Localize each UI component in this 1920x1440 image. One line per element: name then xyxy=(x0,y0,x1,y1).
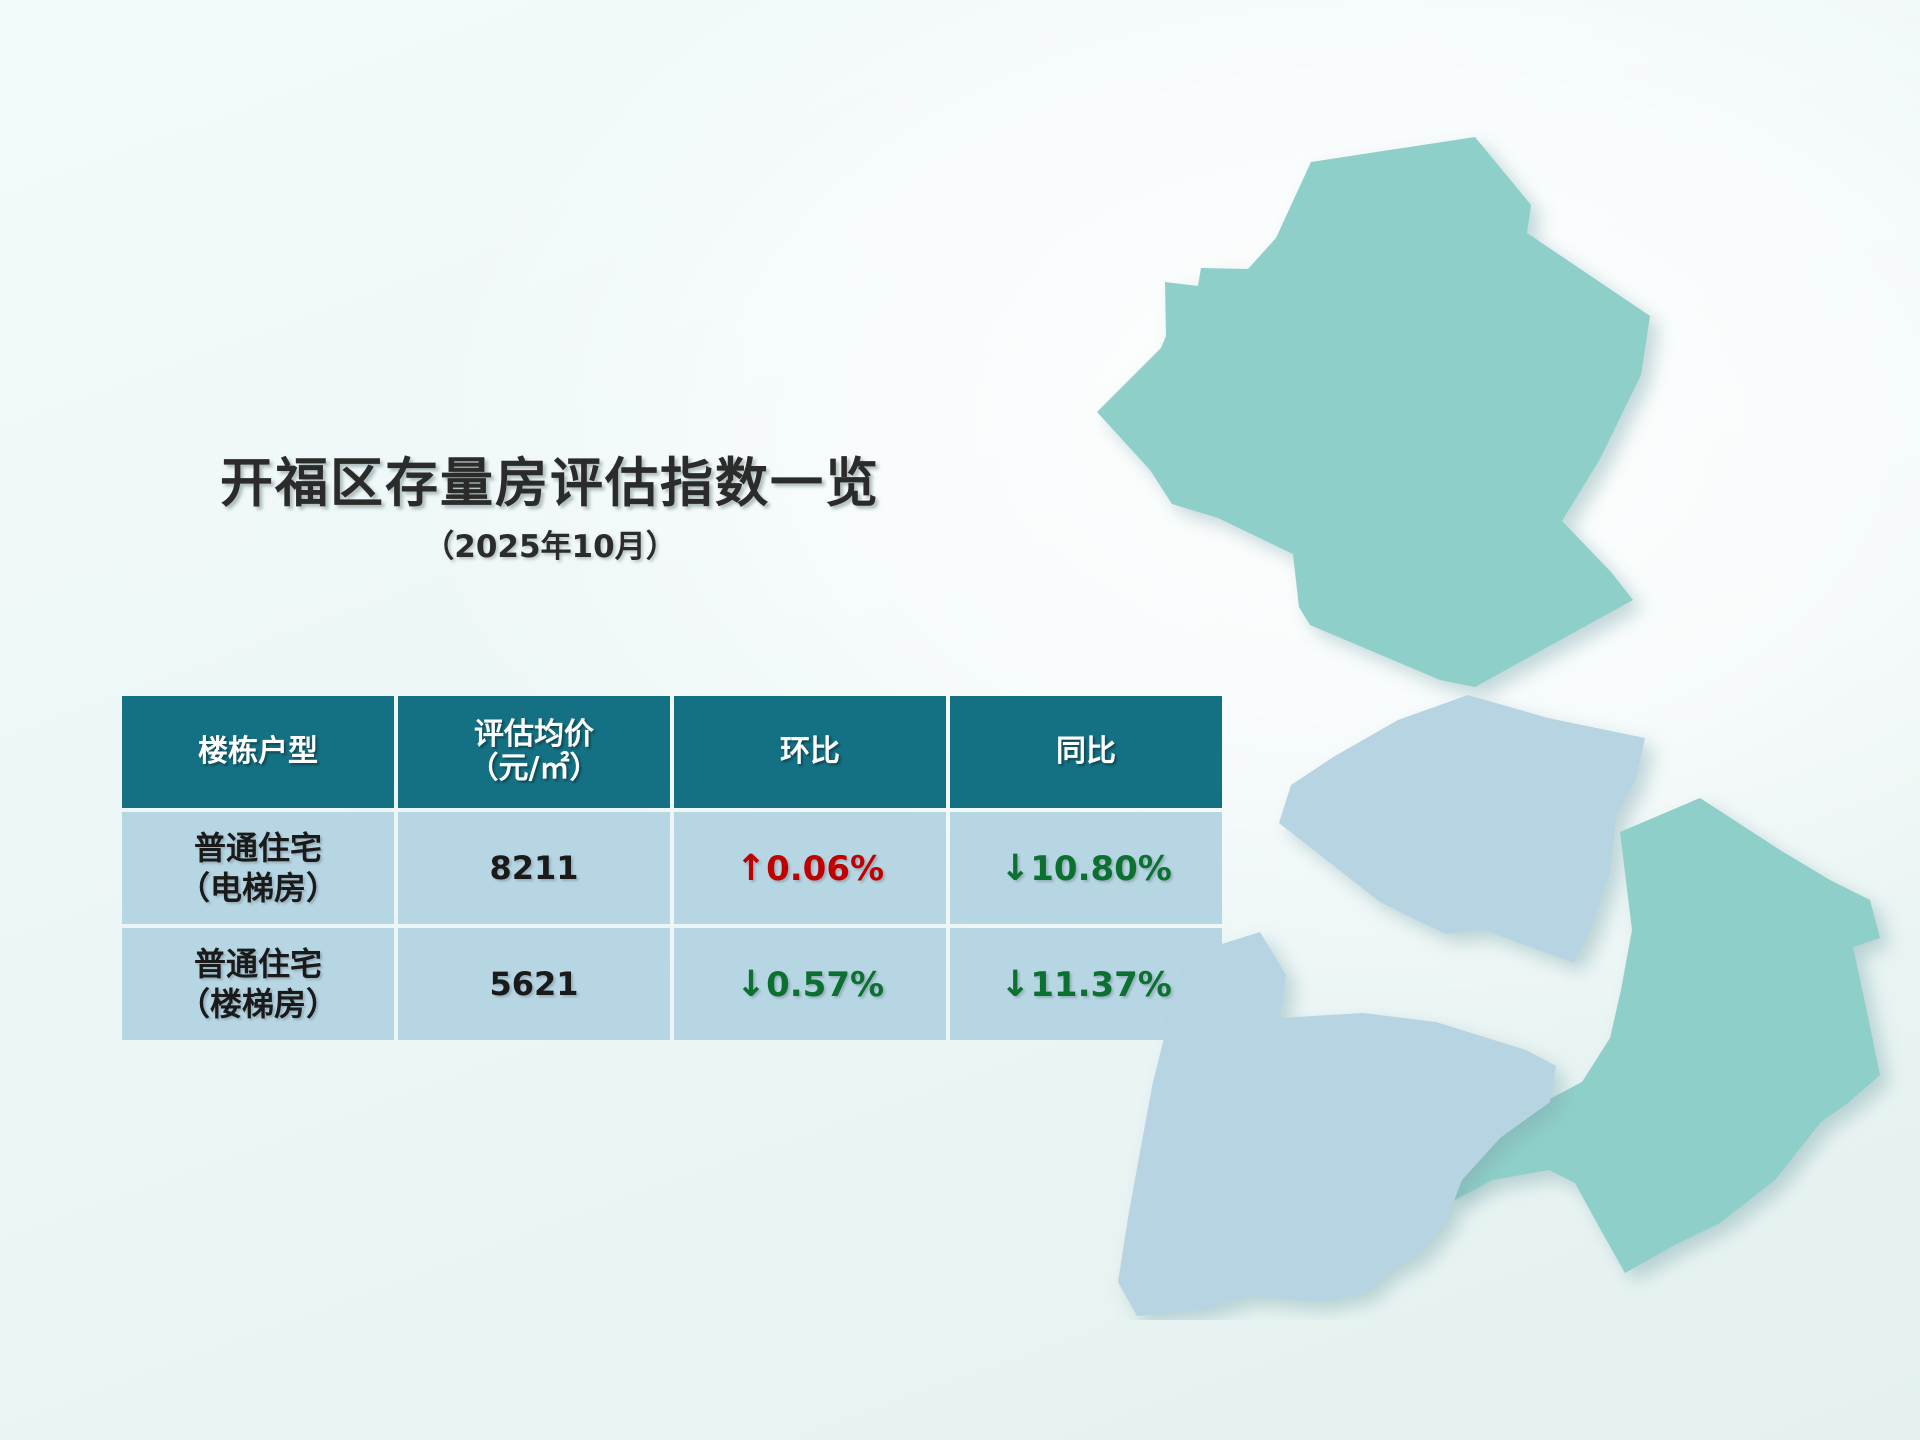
arrow-down-icon: ↓ xyxy=(1000,848,1030,889)
mom-value: 0.06% xyxy=(766,849,884,889)
title-block: 开福区存量房评估指数一览 （2025年10月） xyxy=(150,455,950,566)
column-header-price: 评估均价 （元/㎡） xyxy=(398,696,670,808)
table-header: 楼栋户型 评估均价 （元/㎡） 环比 同比 xyxy=(122,696,1222,808)
housing-type-line1: 普通住宅 xyxy=(194,829,322,867)
column-header-type-label: 楼栋户型 xyxy=(198,734,318,769)
cell-mom: ↑0.06% xyxy=(674,812,946,924)
cell-mom: ↓0.57% xyxy=(674,928,946,1040)
table-row: 普通住宅 （电梯房） 8211 ↑0.06% ↓10.80% xyxy=(122,812,1222,924)
column-header-mom: 环比 xyxy=(674,696,946,808)
mom-delta: ↑0.06% xyxy=(736,849,884,889)
cell-housing-type: 普通住宅 （楼梯房） xyxy=(122,928,394,1040)
index-table: 楼栋户型 评估均价 （元/㎡） 环比 同比 xyxy=(118,692,1226,1044)
slide-canvas: 开福区存量房评估指数一览 （2025年10月） 楼栋户型 评估均价 （元/㎡） … xyxy=(0,0,1920,1440)
mom-delta: ↓0.57% xyxy=(736,965,884,1005)
page-title: 开福区存量房评估指数一览 xyxy=(150,455,950,513)
arrow-up-icon: ↑ xyxy=(736,848,766,889)
table-header-row: 楼栋户型 评估均价 （元/㎡） 环比 同比 xyxy=(122,696,1222,808)
map-region-kaifubei[interactable] xyxy=(1279,695,1645,963)
table-body: 普通住宅 （电梯房） 8211 ↑0.06% ↓10.80% 普通住宅 （楼梯房… xyxy=(122,812,1222,1040)
housing-type-line1: 普通住宅 xyxy=(194,945,322,983)
cell-housing-type: 普通住宅 （电梯房） xyxy=(122,812,394,924)
arrow-down-icon: ↓ xyxy=(1000,964,1030,1005)
table-row: 普通住宅 （楼梯房） 5621 ↓0.57% ↓11.37% xyxy=(122,928,1222,1040)
mom-value: 0.57% xyxy=(766,965,884,1005)
district-map-svg xyxy=(1080,120,1920,1320)
housing-type-line2: （楼梯房） xyxy=(122,984,394,1024)
map-region-kaifuchengqu[interactable] xyxy=(1118,932,1556,1316)
column-header-mom-label: 环比 xyxy=(780,734,840,769)
page-subtitle: （2025年10月） xyxy=(150,521,950,566)
column-header-type: 楼栋户型 xyxy=(122,696,394,808)
housing-type-line2: （电梯房） xyxy=(122,868,394,908)
cell-price: 5621 xyxy=(398,928,670,1040)
cell-price: 8211 xyxy=(398,812,670,924)
map-region-jinxia[interactable] xyxy=(1097,137,1650,687)
arrow-down-icon: ↓ xyxy=(736,964,766,1005)
index-table-wrapper: 楼栋户型 评估均价 （元/㎡） 环比 同比 xyxy=(118,692,1168,1044)
column-header-price-label: 评估均价 xyxy=(474,717,594,752)
column-header-price-unit: （元/㎡） xyxy=(469,751,600,786)
district-map: 金霞板块 7383元/㎡ 环比0.92%↑ 同比11.75%↓ 开福北 7070… xyxy=(1080,120,1920,1320)
